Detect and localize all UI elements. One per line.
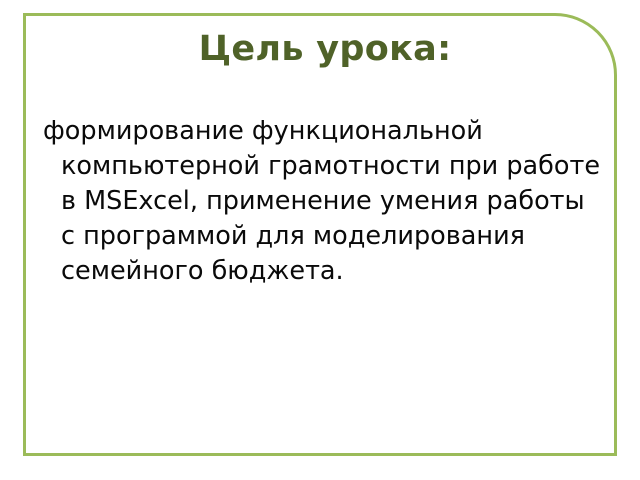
body-placeholder: формирование функциональной компьютерной… [30, 114, 605, 289]
title-placeholder: Цель урока: [23, 30, 617, 69]
body-text: формирование функциональной компьютерной… [30, 114, 605, 289]
slide-canvas: Цель урока: формирование функциональной … [0, 0, 640, 480]
page-title: Цель урока: [199, 30, 452, 69]
